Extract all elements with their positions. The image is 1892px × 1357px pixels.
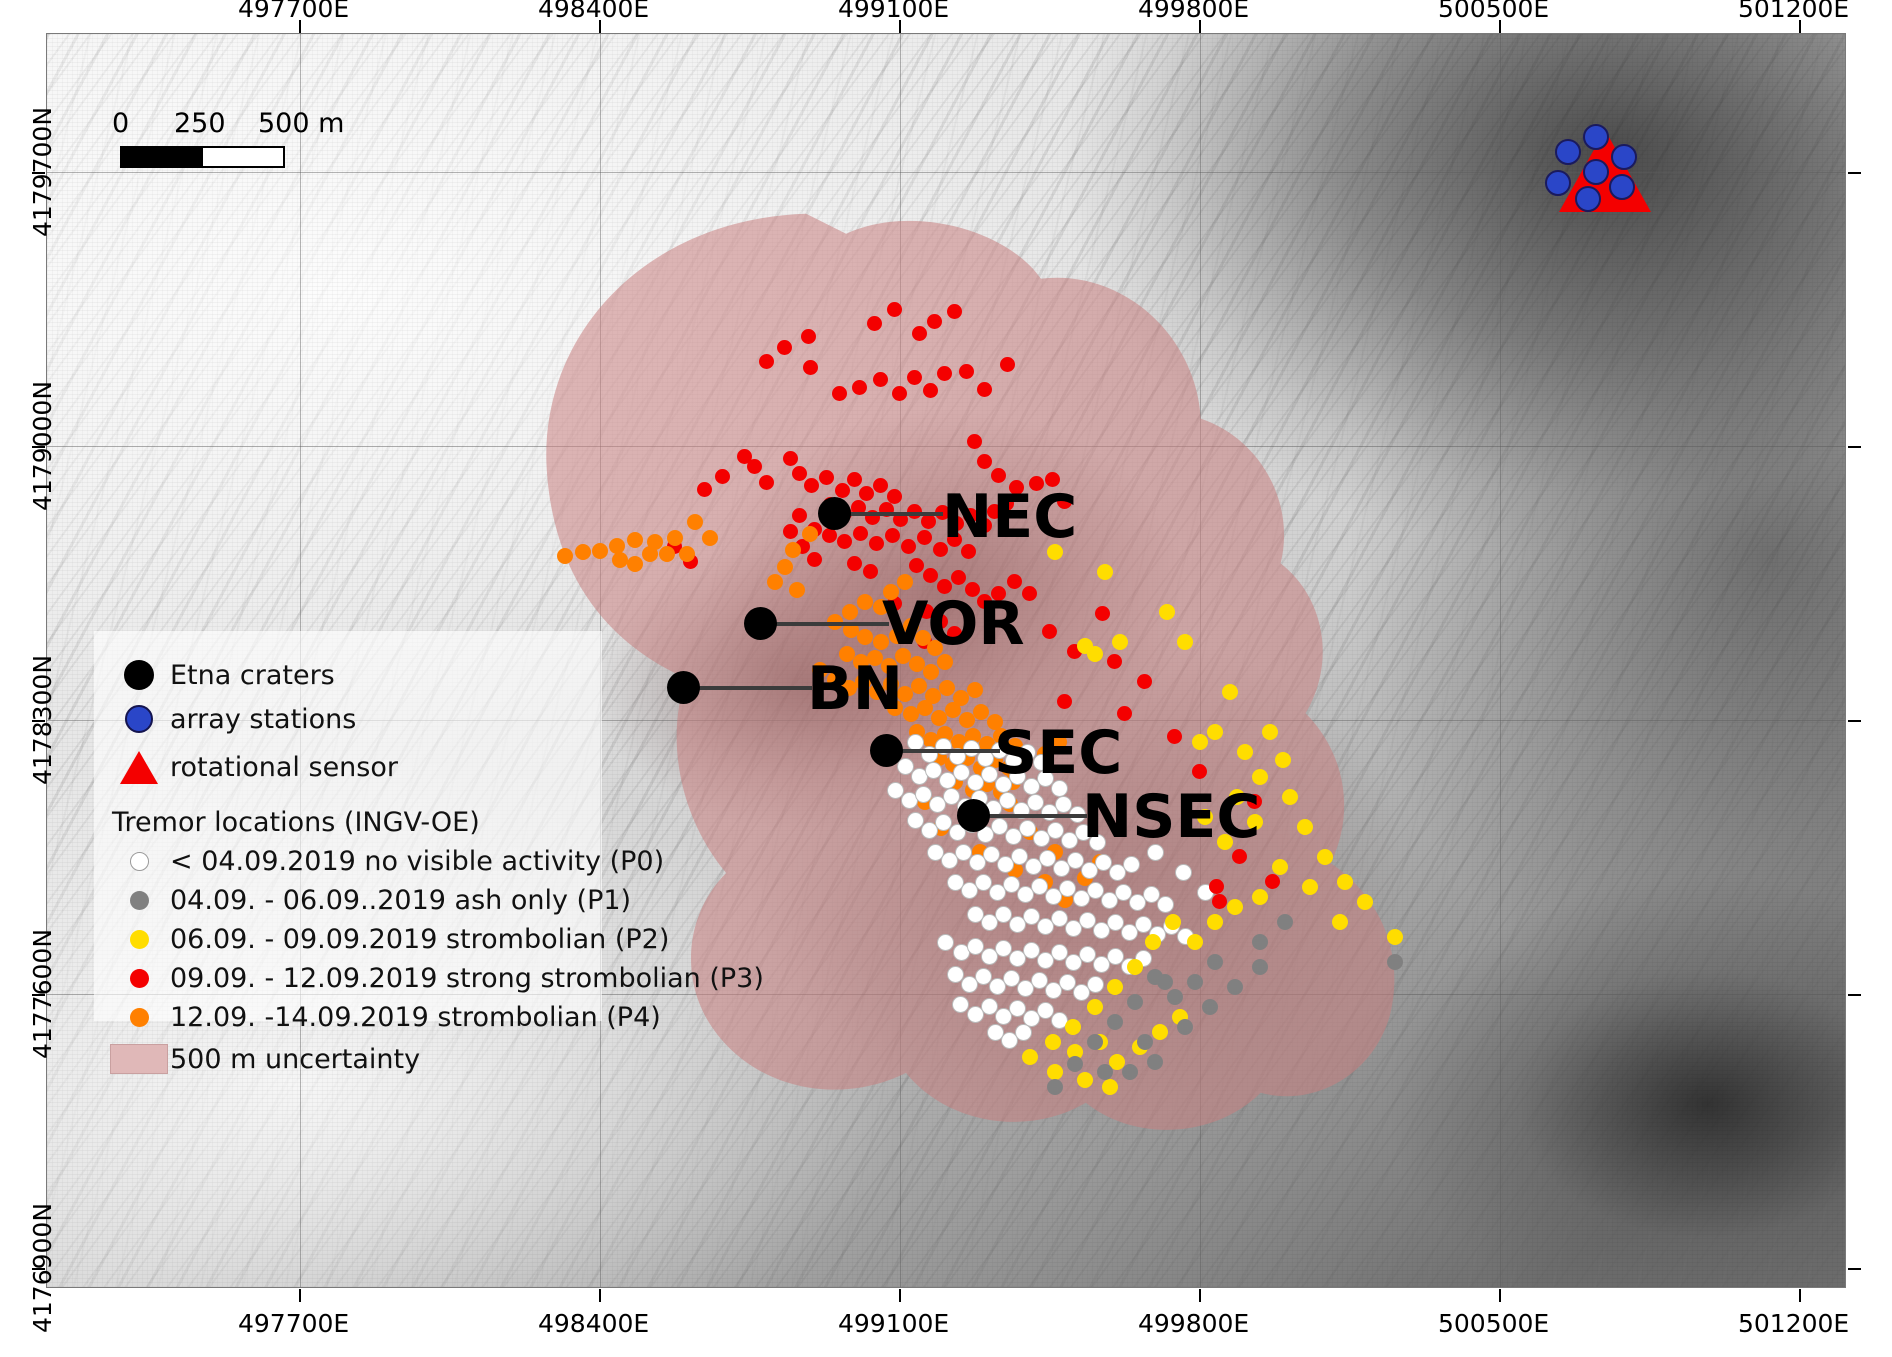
axis-label-bottom: 497700E bbox=[238, 1309, 349, 1338]
tremor-point-p1 bbox=[1277, 914, 1293, 930]
tremor-point-p4 bbox=[627, 556, 643, 572]
tremor-point-p2 bbox=[1207, 724, 1223, 740]
tremor-point-p2 bbox=[1192, 734, 1208, 750]
tremor-point-p4 bbox=[911, 678, 927, 694]
legend-item-rotational-sensor: rotational sensor bbox=[108, 741, 602, 793]
tremor-point-p3 bbox=[835, 483, 850, 498]
tremor-point-p2 bbox=[1387, 929, 1403, 945]
axis-label-bottom: 499800E bbox=[1138, 1309, 1249, 1338]
tremor-point-p2 bbox=[1087, 999, 1103, 1015]
tremor-point-p3 bbox=[887, 302, 902, 317]
axis-tick-bottom bbox=[1499, 1289, 1501, 1302]
legend-symbol-red-triangle bbox=[108, 751, 170, 784]
tremor-point-p2 bbox=[1207, 914, 1223, 930]
legend-symbol-p0-dot bbox=[108, 852, 170, 871]
tremor-point-p3 bbox=[804, 478, 819, 493]
tremor-point-p3 bbox=[917, 530, 932, 545]
tremor-point-p1 bbox=[1202, 999, 1218, 1015]
tremor-point-p1 bbox=[1387, 954, 1403, 970]
tremor-point-p3 bbox=[873, 478, 888, 493]
axis-tick-right bbox=[1848, 446, 1861, 448]
tremor-point-p4 bbox=[939, 680, 955, 696]
scale-tick-500: 500 m bbox=[258, 108, 344, 139]
tremor-point-p3 bbox=[759, 475, 774, 490]
tremor-point-p2 bbox=[1337, 874, 1353, 890]
tremor-point-p3 bbox=[783, 451, 798, 466]
tremor-point-p2 bbox=[1262, 724, 1278, 740]
tremor-point-p2 bbox=[1097, 564, 1113, 580]
tremor-point-p3 bbox=[852, 380, 867, 395]
legend-item-p0: < 04.09.2019 no visible activity (P0) bbox=[108, 842, 602, 881]
legend-item-uncertainty: 500 m uncertainty bbox=[108, 1037, 602, 1081]
tremor-point-p3 bbox=[1137, 674, 1152, 689]
crater-leader-vor bbox=[759, 622, 889, 626]
tremor-point-p4 bbox=[945, 702, 961, 718]
tremor-point-p3 bbox=[1057, 694, 1072, 709]
tremor-point-p3 bbox=[892, 386, 907, 401]
tremor-point-p2 bbox=[1077, 638, 1093, 654]
tremor-point-p4 bbox=[767, 574, 783, 590]
tremor-point-p3 bbox=[807, 552, 822, 567]
tremor-point-p4 bbox=[592, 543, 608, 559]
axis-label-left: 4176900N bbox=[28, 1203, 57, 1333]
tremor-point-p3 bbox=[819, 470, 834, 485]
tremor-point-p3 bbox=[715, 469, 730, 484]
tremor-point-p1 bbox=[1157, 974, 1173, 990]
legend-symbol-uncertainty-patch bbox=[108, 1044, 170, 1074]
tremor-point-p3 bbox=[803, 360, 818, 375]
tremor-point-p2 bbox=[1077, 1072, 1093, 1088]
tremor-point-p1 bbox=[1187, 974, 1203, 990]
axis-tick-bottom bbox=[299, 1289, 301, 1302]
tremor-point-p3 bbox=[1167, 729, 1182, 744]
legend-item-array-stations: array stations bbox=[108, 697, 602, 741]
tremor-point-p3 bbox=[1212, 894, 1227, 909]
tremor-point-p3 bbox=[847, 472, 862, 487]
tremor-point-p3 bbox=[792, 508, 807, 523]
tremor-point-p3 bbox=[1042, 624, 1057, 639]
tremor-point-p3 bbox=[737, 449, 752, 464]
tremor-point-p3 bbox=[1209, 879, 1224, 894]
tremor-point-p4 bbox=[642, 546, 658, 562]
axis-tick-bottom bbox=[899, 1289, 901, 1302]
tremor-point-p4 bbox=[897, 574, 913, 590]
tremor-point-p1 bbox=[1087, 1034, 1103, 1050]
axis-tick-right bbox=[1848, 994, 1861, 996]
tremor-point-p3 bbox=[951, 570, 966, 585]
tremor-point-p3 bbox=[921, 514, 936, 529]
legend-label: rotational sensor bbox=[170, 752, 398, 783]
tremor-point-p1 bbox=[1137, 1034, 1153, 1050]
tremor-point-p2 bbox=[1045, 1034, 1061, 1050]
tremor-point-p1 bbox=[1147, 1054, 1163, 1070]
tremor-point-p3 bbox=[977, 382, 992, 397]
legend-label: array stations bbox=[170, 704, 356, 735]
tremor-point-p3 bbox=[1107, 654, 1122, 669]
tremor-point-p3 bbox=[1000, 357, 1015, 372]
axis-label-bottom: 499100E bbox=[838, 1309, 949, 1338]
tremor-point-p2 bbox=[1022, 1049, 1038, 1065]
axis-tick-bottom bbox=[1199, 1289, 1201, 1302]
tremor-point-p3 bbox=[832, 386, 847, 401]
tremor-point-p3 bbox=[783, 524, 798, 539]
tremor-point-p4 bbox=[667, 530, 683, 546]
tremor-point-p1 bbox=[1167, 989, 1183, 1005]
legend-item-p4: 12.09. -14.09.2019 strombolian (P4) bbox=[108, 998, 602, 1037]
tremor-point-p4 bbox=[679, 546, 695, 562]
tremor-point-p3 bbox=[697, 482, 712, 497]
array-station-marker[interactable] bbox=[1545, 170, 1571, 196]
tremor-point-p3 bbox=[801, 329, 816, 344]
axis-tick-bottom bbox=[1799, 1289, 1801, 1302]
tremor-point-p2 bbox=[1237, 744, 1253, 760]
tremor-point-p3 bbox=[909, 558, 924, 573]
axis-label-bottom: 501200E bbox=[1738, 1309, 1849, 1338]
tremor-point-p1 bbox=[1097, 1064, 1113, 1080]
axis-label-top: 499100E bbox=[838, 0, 949, 23]
tremor-point-p4 bbox=[789, 582, 805, 598]
crater-label-nec: NEC bbox=[942, 482, 1077, 552]
legend-item-p2: 06.09. - 09.09.2019 strombolian (P2) bbox=[108, 920, 602, 959]
tremor-point-p0 bbox=[1087, 976, 1104, 993]
crater-marker-bn[interactable] bbox=[667, 671, 700, 704]
axis-label-top: 499800E bbox=[1138, 0, 1249, 23]
tremor-point-p4 bbox=[659, 546, 675, 562]
legend-label: Etna craters bbox=[170, 660, 335, 691]
tremor-point-p1 bbox=[1252, 934, 1268, 950]
tremor-point-p4 bbox=[612, 552, 628, 568]
tremor-point-p2 bbox=[1272, 859, 1288, 875]
crater-marker-nec[interactable] bbox=[818, 497, 851, 530]
tremor-point-p3 bbox=[822, 528, 837, 543]
tremor-point-p1 bbox=[1107, 1014, 1123, 1030]
tremor-point-p4 bbox=[923, 664, 939, 680]
tremor-point-p3 bbox=[859, 486, 874, 501]
tremor-point-p1 bbox=[1227, 979, 1243, 995]
tremor-point-p2 bbox=[1107, 979, 1123, 995]
axis-tick-right bbox=[1848, 172, 1861, 174]
tremor-point-p1 bbox=[1122, 1064, 1138, 1080]
tremor-point-p1 bbox=[1067, 1056, 1083, 1072]
tremor-point-p2 bbox=[1065, 1019, 1081, 1035]
tremor-point-p3 bbox=[1095, 606, 1110, 621]
tremor-point-p4 bbox=[557, 548, 573, 564]
tremor-point-p3 bbox=[792, 466, 807, 481]
tremor-point-p2 bbox=[1127, 959, 1143, 975]
axis-label-bottom: 498400E bbox=[538, 1309, 649, 1338]
tremor-point-p2 bbox=[1357, 894, 1373, 910]
axis-label-bottom: 500500E bbox=[1438, 1309, 1549, 1338]
tremor-point-p3 bbox=[847, 556, 862, 571]
axis-label-left: 4178300N bbox=[28, 655, 57, 785]
axis-label-top: 501200E bbox=[1738, 0, 1849, 23]
tremor-point-p2 bbox=[1222, 684, 1238, 700]
tremor-point-p3 bbox=[885, 528, 900, 543]
tremor-point-p0 bbox=[937, 934, 954, 951]
crater-marker-vor[interactable] bbox=[744, 607, 777, 640]
tremor-point-p0 bbox=[952, 996, 969, 1013]
tremor-point-p3 bbox=[959, 364, 974, 379]
legend-label: 12.09. -14.09.2019 strombolian (P4) bbox=[170, 1002, 661, 1033]
tremor-point-p2 bbox=[1152, 1024, 1168, 1040]
axis-label-left: 4177600N bbox=[28, 929, 57, 1059]
tremor-point-p3 bbox=[1007, 574, 1022, 589]
tremor-point-p3 bbox=[869, 536, 884, 551]
legend-label: 500 m uncertainty bbox=[170, 1044, 420, 1075]
tremor-point-p3 bbox=[759, 354, 774, 369]
legend-panel: Etna craters array stations rotational s… bbox=[94, 631, 602, 1021]
tremor-point-p2 bbox=[1297, 819, 1313, 835]
tremor-point-p2 bbox=[1317, 849, 1333, 865]
tremor-point-p3 bbox=[947, 304, 962, 319]
axis-tick-right bbox=[1848, 1268, 1861, 1270]
crater-label-sec: SEC bbox=[994, 718, 1122, 788]
legend-item-p3: 09.09. - 12.09.2019 strong strombolian (… bbox=[108, 959, 602, 998]
axis-label-left: 4179700N bbox=[28, 107, 57, 237]
legend-symbol-black-circle bbox=[108, 660, 170, 690]
tremor-point-p2 bbox=[1302, 879, 1318, 895]
tremor-point-p0 bbox=[1123, 856, 1140, 873]
tremor-point-p3 bbox=[937, 366, 952, 381]
tremor-point-p2 bbox=[1332, 914, 1348, 930]
legend-label: 06.09. - 09.09.2019 strombolian (P2) bbox=[170, 924, 669, 955]
map-canvas[interactable]: NEC VOR BN SEC NSEC bbox=[46, 33, 1846, 1288]
tremor-point-p1 bbox=[1252, 959, 1268, 975]
tremor-point-p3 bbox=[907, 370, 922, 385]
tremor-point-p0 bbox=[1157, 896, 1174, 913]
legend-symbol-p2-dot bbox=[108, 930, 170, 949]
tremor-point-p3 bbox=[867, 316, 882, 331]
tremor-point-p3 bbox=[853, 526, 868, 541]
tremor-point-p4 bbox=[973, 704, 989, 720]
legend-heading-tremor: Tremor locations (INGV-OE) bbox=[108, 793, 602, 842]
tremor-point-p4 bbox=[802, 526, 818, 542]
tremor-point-p2 bbox=[1177, 634, 1193, 650]
legend-symbol-blue-circle bbox=[108, 705, 170, 733]
legend-symbol-p4-dot bbox=[108, 1008, 170, 1027]
array-station-marker[interactable] bbox=[1611, 144, 1637, 170]
legend-label: 04.09. - 06.09..2019 ash only (P1) bbox=[170, 885, 631, 916]
array-station-marker[interactable] bbox=[1609, 174, 1635, 200]
tremor-point-p3 bbox=[1192, 764, 1207, 779]
tremor-point-p3 bbox=[912, 326, 927, 341]
tremor-point-p3 bbox=[901, 539, 916, 554]
legend-item-p1: 04.09. - 06.09..2019 ash only (P1) bbox=[108, 881, 602, 920]
tremor-point-p4 bbox=[687, 514, 703, 530]
tremor-point-p2 bbox=[1165, 914, 1181, 930]
tremor-point-p3 bbox=[923, 383, 938, 398]
legend-symbol-p1-dot bbox=[108, 891, 170, 910]
axis-tick-bottom bbox=[599, 1289, 601, 1302]
tremor-point-p3 bbox=[977, 454, 992, 469]
array-station-marker[interactable] bbox=[1575, 186, 1601, 212]
scale-bar-segment-dark bbox=[122, 148, 203, 166]
tremor-point-p3 bbox=[927, 314, 942, 329]
tremor-point-p2 bbox=[1047, 1064, 1063, 1080]
crater-marker-sec[interactable] bbox=[870, 734, 903, 767]
tremor-point-p0 bbox=[1175, 864, 1192, 881]
legend-label: 09.09. - 12.09.2019 strong strombolian (… bbox=[170, 963, 764, 994]
crater-label-vor: VOR bbox=[882, 589, 1025, 659]
scale-bar-segment-light bbox=[203, 148, 284, 166]
scale-tick-0: 0 bbox=[112, 108, 129, 139]
tremor-point-p4 bbox=[842, 604, 858, 620]
scale-bar: 0 250 500 m bbox=[120, 146, 285, 168]
tremor-point-p4 bbox=[857, 629, 873, 645]
tremor-point-p3 bbox=[837, 534, 852, 549]
tremor-point-p4 bbox=[702, 530, 718, 546]
axis-tick-right bbox=[1848, 720, 1861, 722]
tremor-point-p2 bbox=[1112, 634, 1128, 650]
tremor-point-p2 bbox=[1145, 934, 1161, 950]
tremor-point-p4 bbox=[777, 559, 793, 575]
legend-label: < 04.09.2019 no visible activity (P0) bbox=[170, 846, 664, 877]
legend-item-etna-craters: Etna craters bbox=[108, 653, 602, 697]
crater-label-nsec: NSEC bbox=[1082, 782, 1260, 852]
axis-label-top: 498400E bbox=[538, 0, 649, 23]
tremor-point-p4 bbox=[785, 542, 801, 558]
array-station-marker[interactable] bbox=[1583, 159, 1609, 185]
tremor-point-p1 bbox=[1207, 954, 1223, 970]
crater-leader-bn bbox=[682, 686, 812, 690]
tremor-point-p3 bbox=[863, 564, 878, 579]
tremor-point-p1 bbox=[1047, 1079, 1063, 1095]
axis-label-top: 500500E bbox=[1438, 0, 1549, 23]
scale-bar-graphic bbox=[120, 146, 285, 168]
scale-tick-250: 250 bbox=[174, 108, 226, 139]
axis-label-top: 497700E bbox=[238, 0, 349, 23]
tremor-point-p1 bbox=[1127, 994, 1143, 1010]
tremor-point-p2 bbox=[1102, 1079, 1118, 1095]
tremor-point-p3 bbox=[777, 340, 792, 355]
axis-label-left: 4179000N bbox=[28, 381, 57, 511]
tremor-point-p3 bbox=[923, 568, 938, 583]
tremor-point-p4 bbox=[857, 594, 873, 610]
tremor-point-p2 bbox=[1252, 889, 1268, 905]
map-figure: NEC VOR BN SEC NSEC bbox=[0, 0, 1892, 1357]
tremor-point-p3 bbox=[991, 468, 1006, 483]
tremor-point-p4 bbox=[575, 544, 591, 560]
crater-label-bn: BN bbox=[807, 654, 903, 724]
tremor-point-p2 bbox=[1275, 752, 1291, 768]
tremor-point-p2 bbox=[1227, 899, 1243, 915]
tremor-point-p1 bbox=[1177, 1019, 1193, 1035]
tremor-point-p3 bbox=[1265, 874, 1280, 889]
tremor-point-p0 bbox=[1015, 1024, 1032, 1041]
tremor-point-p4 bbox=[967, 682, 983, 698]
crater-marker-nsec[interactable] bbox=[957, 799, 990, 832]
legend-symbol-p3-dot bbox=[108, 969, 170, 988]
tremor-point-p3 bbox=[873, 372, 888, 387]
array-station-marker[interactable] bbox=[1555, 139, 1581, 165]
tremor-point-p2 bbox=[1159, 604, 1175, 620]
tremor-point-p2 bbox=[1282, 789, 1298, 805]
tremor-point-p4 bbox=[917, 700, 933, 716]
tremor-point-p2 bbox=[1187, 934, 1203, 950]
tremor-point-p3 bbox=[967, 434, 982, 449]
tremor-point-p4 bbox=[627, 532, 643, 548]
array-station-marker[interactable] bbox=[1583, 124, 1609, 150]
